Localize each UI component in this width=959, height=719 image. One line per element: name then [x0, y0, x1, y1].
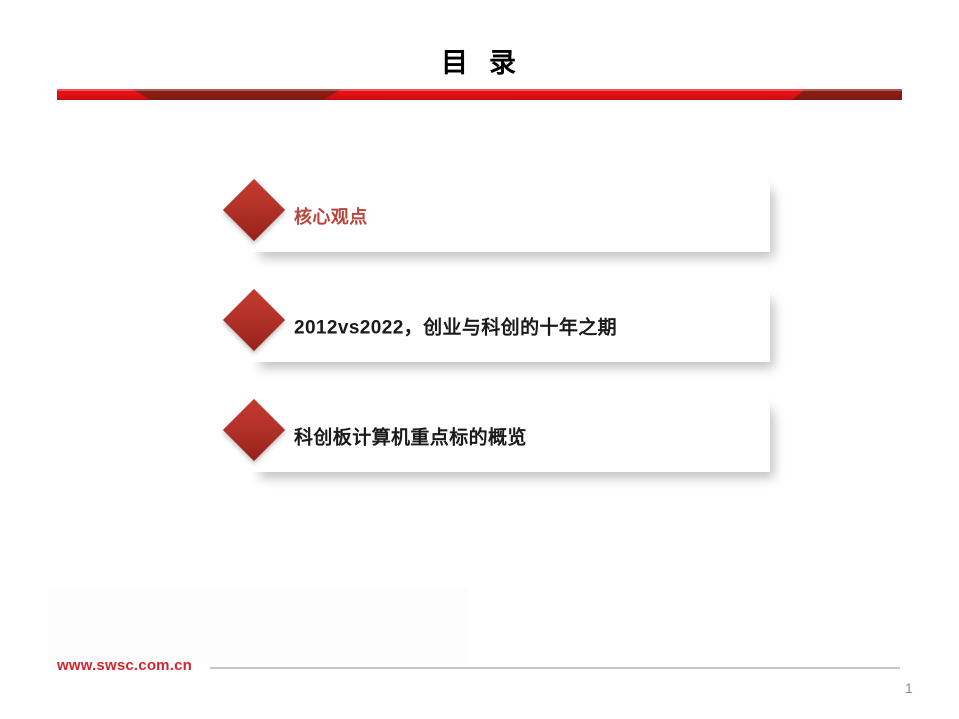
footer-website-url[interactable]: www.swsc.com.cn — [57, 657, 192, 674]
footer-divider-line — [210, 667, 900, 669]
toc-item-1[interactable]: 核心观点 — [232, 176, 772, 256]
title-divider-bar — [57, 89, 902, 100]
page-number: 1 — [905, 680, 935, 696]
page-title: 目 录 — [0, 46, 959, 80]
background-wash — [48, 588, 468, 664]
toc-item-3[interactable]: 科创板计算机重点标的概览 — [232, 396, 772, 476]
divider-bar-highlight — [57, 89, 902, 91]
toc-list: 核心观点 2012vs2022，创业与科创的十年之期 科创板计算机重点标的概览 — [232, 176, 772, 506]
toc-item-1-label: 核心观点 — [294, 203, 368, 229]
toc-item-2-label: 2012vs2022，创业与科创的十年之期 — [294, 313, 617, 340]
toc-item-2[interactable]: 2012vs2022，创业与科创的十年之期 — [232, 286, 772, 366]
slide-canvas: 目 录 核心观点 2012vs2022，创业与科创的十年之期 科创板计算机重点标… — [0, 0, 959, 719]
toc-item-3-label: 科创板计算机重点标的概览 — [294, 423, 527, 450]
